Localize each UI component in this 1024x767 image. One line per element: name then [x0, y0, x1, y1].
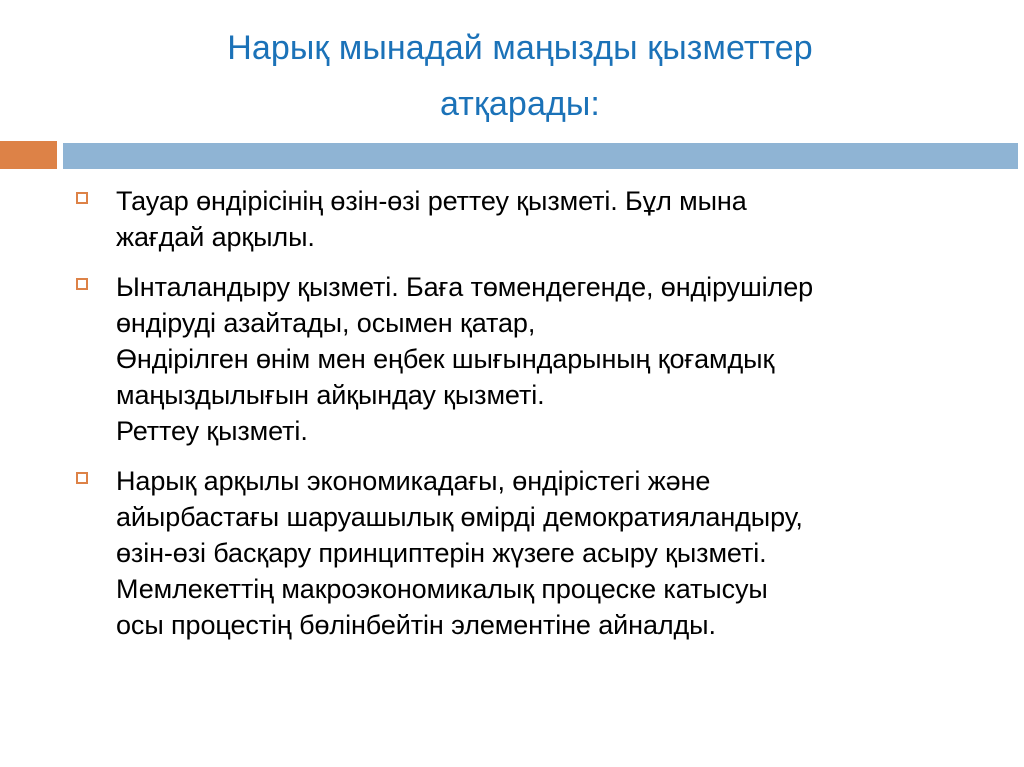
slide-title-line-2: атқарады: [120, 76, 920, 132]
slide-title-line-1: Нарық мынадай маңызды қызметтер [120, 20, 920, 76]
bullet-list: Тауар өндірісінің өзін-өзі реттеу қызмет… [70, 183, 1000, 643]
divider-bar [63, 143, 1018, 169]
list-item: Нарық арқылы экономикадағы, өндірістегі … [70, 463, 1000, 643]
list-item: Тауар өндірісінің өзін-өзі реттеу қызмет… [70, 183, 1000, 255]
hollow-square-bullet-icon [76, 472, 88, 484]
list-item-text: Тауар өндірісінің өзін-өзі реттеу қызмет… [116, 183, 1000, 255]
hollow-square-bullet-icon [76, 278, 88, 290]
hollow-square-bullet-icon [76, 192, 88, 204]
title-divider [0, 141, 1024, 169]
slide-title: Нарық мынадай маңызды қызметтер атқарады… [120, 20, 920, 132]
list-item-text: Нарық арқылы экономикадағы, өндірістегі … [116, 463, 1000, 643]
slide-canvas: Нарық мынадай маңызды қызметтер атқарады… [0, 0, 1024, 767]
list-item: Ынталандыру қызметі. Баға төмендегенде, … [70, 269, 1000, 449]
divider-accent-block [0, 141, 57, 169]
list-item-text: Ынталандыру қызметі. Баға төмендегенде, … [116, 269, 1000, 449]
